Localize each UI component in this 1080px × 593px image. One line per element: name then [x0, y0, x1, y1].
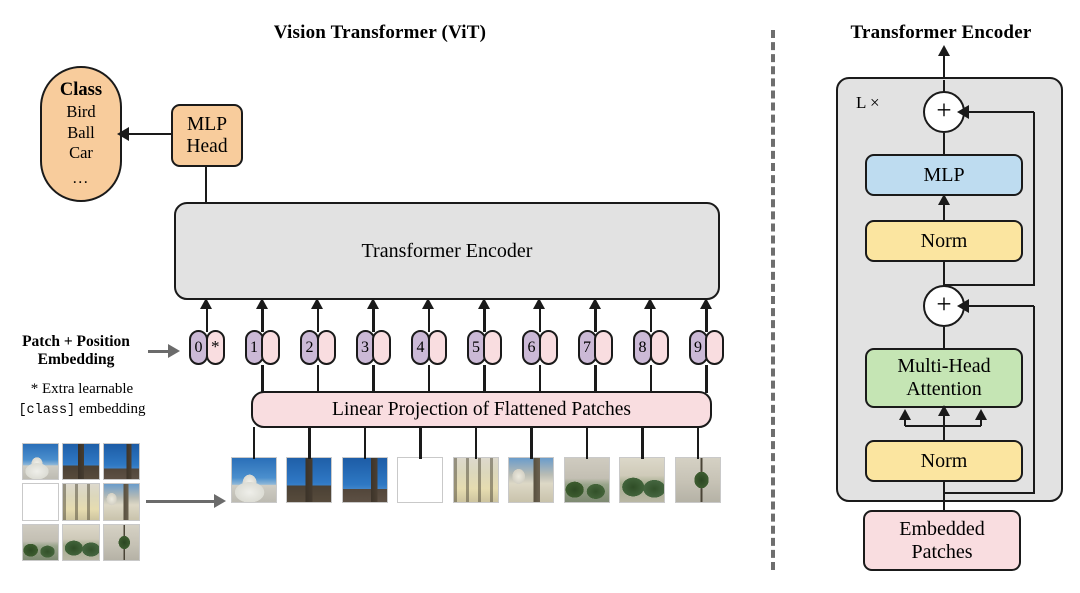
residual-bottom-vertical: [1033, 306, 1035, 492]
residual-top-arrowhead: [957, 105, 969, 119]
right-panel-title: Transformer Encoder: [810, 22, 1072, 44]
source-patch-2: [103, 443, 140, 480]
vit-architecture-figure: Vision Transformer (ViT) Class Bird Ball…: [0, 0, 1080, 593]
footnote-line2: [class] embedding: [6, 400, 158, 420]
patch-6-to-projection-line: [530, 427, 532, 459]
transformer-encoder-bar: Transformer Encoder: [174, 202, 720, 300]
token-2-patch-half: [317, 330, 336, 365]
embedded-patches-line1: Embedded: [899, 518, 985, 541]
embedding-token-7: 7: [578, 330, 614, 365]
token-0-to-encoder-line: [206, 307, 208, 332]
patch-2-to-projection-line: [308, 427, 310, 459]
token-5-to-encoder-line: [483, 307, 485, 332]
source-patch-6: [22, 524, 59, 561]
source-patch-4: [62, 483, 99, 520]
class-item-car: Car: [69, 143, 93, 164]
mlp-head-to-encoder-line: [205, 167, 207, 203]
patch-8-to-projection-line: [641, 427, 643, 459]
token-3-to-encoder-arrowhead: [367, 298, 379, 309]
token-3-patch-half: [372, 330, 391, 365]
token-6-to-encoder-arrowhead: [533, 298, 545, 309]
embedding-token-3: 3: [356, 330, 392, 365]
multi-head-attention-block: Multi-Head Attention: [865, 348, 1023, 408]
embedding-token-5: 5: [467, 330, 503, 365]
embedding-token-0: 0*: [189, 330, 225, 365]
token-9-to-encoder-line: [705, 307, 707, 332]
norm-bottom-block: Norm: [865, 440, 1023, 482]
patch-position-embedding-label: Patch + Position Embedding: [6, 333, 146, 370]
residual-add-top-symbol: +: [936, 97, 951, 124]
flattened-patch-5: [453, 457, 499, 503]
footnote-line1: * Extra learnable: [6, 380, 158, 400]
residual-top-vertical: [1033, 112, 1035, 284]
token-1-to-encoder-arrowhead: [256, 298, 268, 309]
norm-bottom-block-label: Norm: [921, 450, 968, 472]
left-panel-title: Vision Transformer (ViT): [180, 22, 580, 44]
projection-to-token-1-line: [261, 365, 263, 393]
adder-top-to-output-line: [943, 80, 945, 93]
patch-5-to-projection-line: [475, 427, 477, 459]
token-6-patch-half: [539, 330, 558, 365]
patch-3-to-projection-line: [364, 427, 366, 459]
residual-bottom-horizontal-top: [966, 305, 1034, 307]
residual-top-horizontal-top: [966, 111, 1034, 113]
class-heading: Class: [60, 79, 102, 102]
token-2-to-encoder-arrowhead: [311, 298, 323, 309]
source-patch-3: [22, 483, 59, 520]
mlp-head-label-line2: Head: [186, 136, 227, 158]
qkv-center-arrowhead: [938, 405, 950, 416]
norm-bottom-input-line: [943, 482, 945, 512]
flattened-patch-3: [342, 457, 388, 503]
token-9-to-encoder-arrowhead: [700, 298, 712, 309]
projection-to-token-6-line: [539, 365, 541, 393]
source-image-patch-grid: [22, 443, 140, 561]
projection-to-token-4-line: [428, 365, 430, 393]
embedding-token-2: 2: [300, 330, 336, 365]
source-patch-0: [22, 443, 59, 480]
image-to-sequence-arrow-icon: [146, 494, 226, 508]
class-item-ball: Ball: [67, 123, 95, 144]
encoder-output-arrowhead: [938, 45, 950, 56]
projection-to-token-7-line: [594, 365, 596, 393]
footnote-class-token: [class]: [18, 403, 75, 418]
token-1-to-encoder-line: [261, 307, 263, 332]
qkv-left-arrowhead: [899, 409, 911, 420]
class-ellipsis: ...: [73, 164, 90, 189]
projection-to-token-5-line: [483, 365, 485, 393]
embedded-patches-line2: Patches: [911, 541, 972, 564]
token-4-to-encoder-line: [428, 307, 430, 332]
source-patch-1: [62, 443, 99, 480]
flattened-patch-6: [508, 457, 554, 503]
mha-label-line1: Multi-Head: [897, 355, 990, 378]
embedding-label-arrow-icon: [148, 344, 180, 358]
patch-4-to-projection-line: [419, 427, 421, 459]
patch-1-to-projection-line: [253, 427, 255, 459]
panel-divider: [771, 30, 775, 570]
flattened-patch-2: [286, 457, 332, 503]
token-7-to-encoder-line: [594, 307, 596, 332]
mlp-to-adder-line: [943, 133, 945, 155]
source-patch-7: [62, 524, 99, 561]
token-5-patch-half: [483, 330, 502, 365]
embedding-label-line1: Patch + Position: [6, 333, 146, 351]
extra-learnable-footnote: * Extra learnable [class] embedding: [6, 380, 158, 419]
mha-label-line2: Attention: [906, 378, 982, 401]
norm-top-input-line: [943, 262, 945, 286]
mlp-head-to-class-arrowhead: [117, 127, 129, 141]
token-8-to-encoder-arrowhead: [644, 298, 656, 309]
token-8-to-encoder-line: [650, 307, 652, 332]
source-patch-5: [103, 483, 140, 520]
projection-to-token-3-line: [372, 365, 374, 393]
token-9-patch-half: [705, 330, 724, 365]
norm-top-block: Norm: [865, 220, 1023, 262]
projection-to-token-8-line: [650, 365, 652, 393]
class-item-bird: Bird: [66, 102, 95, 123]
token-class-star-half: *: [206, 330, 225, 365]
transformer-encoder-bar-label: Transformer Encoder: [362, 240, 533, 262]
embedding-token-9: 9: [689, 330, 725, 365]
mlp-head-to-class-line: [128, 133, 172, 135]
linear-projection-label: Linear Projection of Flattened Patches: [332, 399, 631, 421]
linear-projection-bar: Linear Projection of Flattened Patches: [251, 391, 712, 428]
token-7-patch-half: [594, 330, 613, 365]
token-4-to-encoder-arrowhead: [422, 298, 434, 309]
embedding-token-6: 6: [522, 330, 558, 365]
projection-to-token-2-line: [317, 365, 319, 393]
token-0-to-encoder-arrowhead: [200, 298, 212, 309]
token-5-to-encoder-arrowhead: [478, 298, 490, 309]
flattened-patch-7: [564, 457, 610, 503]
token-1-patch-half: [261, 330, 280, 365]
flattened-patch-8: [619, 457, 665, 503]
embedding-token-4: 4: [411, 330, 447, 365]
token-4-patch-half: [428, 330, 447, 365]
repeat-count-label: L ×: [856, 93, 880, 113]
mlp-block-label: MLP: [923, 164, 964, 186]
flattened-patch-9: [675, 457, 721, 503]
embedding-label-line2: Embedding: [6, 351, 146, 369]
token-7-to-encoder-arrowhead: [589, 298, 601, 309]
embedded-patches-block: Embedded Patches: [863, 510, 1021, 571]
embedding-token-1: 1: [245, 330, 281, 365]
norm-top-to-mlp-arrowhead: [938, 194, 950, 205]
footnote-embedding-word: embedding: [75, 401, 145, 417]
residual-top-horizontal-bottom: [943, 284, 1035, 286]
patch-9-to-projection-line: [697, 427, 699, 459]
residual-bottom-horizontal-bottom: [943, 492, 1035, 494]
embedding-token-8: 8: [633, 330, 669, 365]
projection-to-token-9-line: [705, 365, 707, 393]
flattened-patch-1: [231, 457, 277, 503]
residual-bottom-arrowhead: [957, 299, 969, 313]
class-output-box: Class Bird Ball Car ...: [40, 66, 122, 202]
qkv-right-arrowhead: [975, 409, 987, 420]
patch-7-to-projection-line: [586, 427, 588, 459]
token-6-to-encoder-line: [539, 307, 541, 332]
mha-to-adder-line: [943, 327, 945, 349]
residual-add-bottom-symbol: +: [936, 291, 951, 318]
mlp-head-box: MLP Head: [171, 104, 243, 167]
token-2-to-encoder-line: [317, 307, 319, 332]
source-patch-8: [103, 524, 140, 561]
flattened-patch-4: [397, 457, 443, 503]
mlp-block: MLP: [865, 154, 1023, 196]
mlp-head-label-line1: MLP: [187, 114, 227, 136]
token-3-to-encoder-line: [372, 307, 374, 332]
norm-top-block-label: Norm: [921, 230, 968, 252]
token-8-patch-half: [650, 330, 669, 365]
